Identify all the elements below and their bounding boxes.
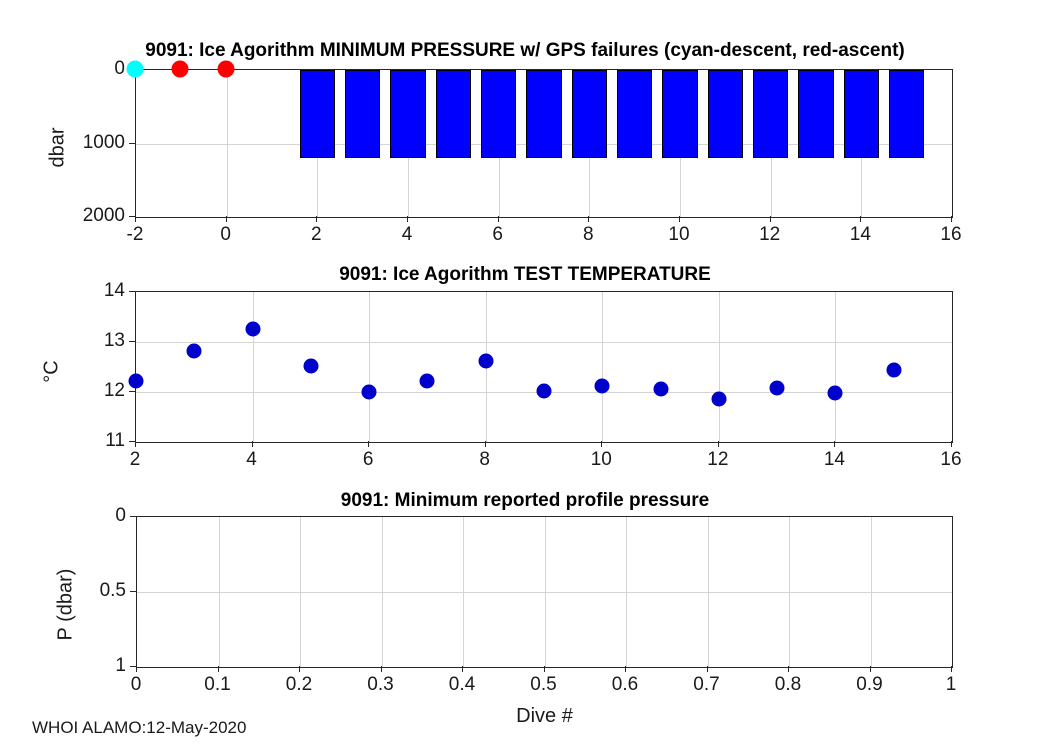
subplot3-title: 9091: Minimum reported profile pressure [0,490,1050,512]
tick-mark-x [770,216,771,222]
footer-credit: WHOI ALAMO:12-May-2020 [32,718,246,738]
gridline-horizontal [137,592,952,593]
gridline-vertical [369,292,370,442]
bar [300,70,335,158]
x-tick-label: 10 [591,449,612,471]
x-tick-label: 0.4 [449,674,475,696]
tick-mark-x [407,216,408,222]
x-tick-label: 0 [220,224,231,246]
tick-mark-x [299,666,300,672]
tick-mark-x [485,441,486,447]
bar [481,70,516,158]
temperature-data-point [420,374,435,389]
x-tick-label: 0.6 [612,674,638,696]
y-tick-label: 12 [25,380,125,402]
x-tick-label: 0.1 [204,674,230,696]
tick-mark-x [218,666,219,672]
gps-failure-ascent-marker [172,61,189,78]
tick-mark-y [129,391,135,392]
tick-mark-x [226,216,227,222]
x-tick-label: 16 [940,224,961,246]
gridline-vertical [253,292,254,442]
y-tick-label: 0 [25,58,125,80]
y-tick-label: 11 [25,430,125,452]
tick-mark-x [834,441,835,447]
subplot3-plot-area [136,516,953,668]
tick-mark-x [788,666,789,672]
x-tick-label: 0 [131,674,142,696]
x-tick-label: 16 [940,449,961,471]
bar [390,70,425,158]
tick-mark-x [625,666,626,672]
temperature-data-point [653,381,668,396]
x-tick-label: 0.9 [856,674,882,696]
gridline-vertical [835,292,836,442]
bar [844,70,879,158]
gps-failure-descent-marker [127,61,144,78]
tick-mark-x [544,666,545,672]
subplot-test-temperature: 9091: Ice Agorithm TEST TEMPERATURE °C 2… [0,250,1050,480]
x-tick-label: 12 [759,224,780,246]
bar [526,70,561,158]
x-tick-label: 0.7 [693,674,719,696]
y-tick-label: 13 [25,330,125,352]
temperature-data-point [595,378,610,393]
tick-mark-y [130,666,136,667]
tick-mark-x [252,441,253,447]
tick-mark-y [129,143,135,144]
tick-mark-x [718,441,719,447]
tick-mark-x [135,441,136,447]
bar [889,70,924,158]
tick-mark-x [316,216,317,222]
tick-mark-y [129,341,135,342]
bar [617,70,652,158]
matlab-figure: 9091: Ice Agorithm MINIMUM PRESSURE w/ G… [0,0,1050,750]
tick-mark-x [588,216,589,222]
tick-mark-x [136,666,137,672]
x-tick-label: 0.8 [775,674,801,696]
temperature-data-point [828,386,843,401]
x-tick-label: 14 [824,449,845,471]
bar [662,70,697,158]
y-tick-label: 1000 [25,132,125,154]
subplot-minimum-pressure: 9091: Ice Agorithm MINIMUM PRESSURE w/ G… [0,0,1050,250]
x-tick-label: 0.5 [530,674,556,696]
tick-mark-y [129,441,135,442]
x-tick-label: 4 [402,224,413,246]
bar [753,70,788,158]
temperature-data-point [886,362,901,377]
x-tick-label: 0.3 [367,674,393,696]
tick-mark-x [870,666,871,672]
temperature-data-point [129,374,144,389]
x-tick-label: 6 [363,449,374,471]
x-tick-label: 2 [130,449,141,471]
y-tick-label: 14 [25,280,125,302]
x-tick-label: 8 [583,224,594,246]
tick-mark-x [951,441,952,447]
tick-mark-x [368,441,369,447]
tick-mark-x [135,216,136,222]
y-tick-label: 0 [26,505,126,527]
tick-mark-x [462,666,463,672]
x-tick-label: 2 [311,224,322,246]
tick-mark-x [707,666,708,672]
tick-mark-x [860,216,861,222]
subplot-min-reported-pressure: 9091: Minimum reported profile pressure … [0,480,1050,710]
subplot2-plot-area [135,291,953,443]
temperature-data-point [711,391,726,406]
tick-mark-x [951,216,952,222]
subplot2-title: 9091: Ice Agorithm TEST TEMPERATURE [0,264,1050,286]
bar [798,70,833,158]
x-tick-label: 0.2 [286,674,312,696]
temperature-data-point [478,354,493,369]
tick-mark-y [130,591,136,592]
x-tick-label: 14 [850,224,871,246]
temperature-data-point [537,384,552,399]
x-tick-label: 6 [492,224,503,246]
tick-mark-y [130,516,136,517]
x-tick-label: 1 [946,674,957,696]
gridline-vertical [719,292,720,442]
subplot3-xlabel: Dive # [136,705,953,728]
gps-failure-ascent-marker [217,61,234,78]
x-tick-label: 4 [246,449,257,471]
x-tick-label: 12 [707,449,728,471]
tick-mark-x [679,216,680,222]
temperature-data-point [187,343,202,358]
tick-mark-y [129,216,135,217]
tick-mark-x [951,666,952,672]
subplot1-plot-area [135,69,953,218]
bar [345,70,380,158]
y-tick-label: 1 [26,655,126,677]
temperature-data-point [362,384,377,399]
x-tick-label: 8 [479,449,490,471]
y-tick-label: 2000 [25,205,125,227]
x-tick-label: -2 [127,224,144,246]
tick-mark-y [129,291,135,292]
subplot3-ylabel: P (dbar) [55,535,78,675]
tick-mark-x [381,666,382,672]
x-tick-label: 10 [668,224,689,246]
temperature-data-point [245,322,260,337]
gridline-horizontal [136,342,952,343]
bar [572,70,607,158]
bar [708,70,743,158]
temperature-data-point [770,381,785,396]
y-tick-label: 0.5 [26,580,126,602]
gridline-vertical [602,292,603,442]
bar [436,70,471,158]
zero-baseline [135,69,951,70]
subplot1-title: 9091: Ice Agorithm MINIMUM PRESSURE w/ G… [0,40,1050,62]
tick-mark-x [498,216,499,222]
tick-mark-x [601,441,602,447]
temperature-data-point [303,359,318,374]
